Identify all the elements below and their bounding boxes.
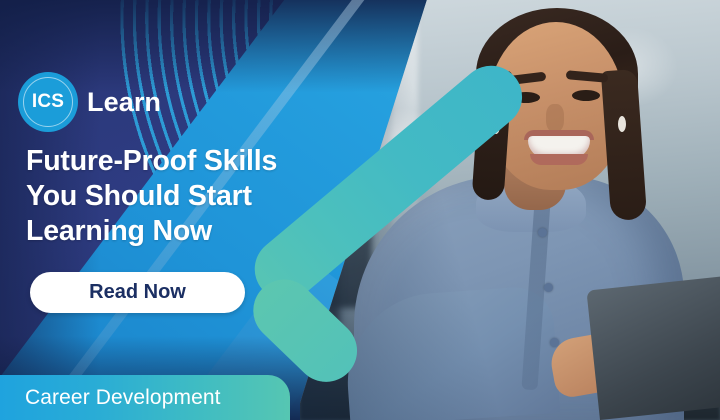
promo-banner: ICS Learn Future-Proof Skills You Should… [0,0,720,420]
brand-logo[interactable]: ICS Learn [20,74,161,130]
read-now-button[interactable]: Read Now [30,272,245,313]
headline-line-1: Future-Proof Skills [26,144,356,179]
headline-line-2: You Should Start [26,179,356,214]
ics-circle-icon: ICS [20,74,76,130]
category-badge[interactable]: Career Development [0,375,290,420]
page-title: Future-Proof Skills You Should Start Lea… [26,144,356,249]
category-label: Career Development [25,386,221,410]
logo-wordmark: Learn [87,87,161,118]
logo-mark-text: ICS [32,91,64,113]
headline-line-3: Learning Now [26,214,356,249]
